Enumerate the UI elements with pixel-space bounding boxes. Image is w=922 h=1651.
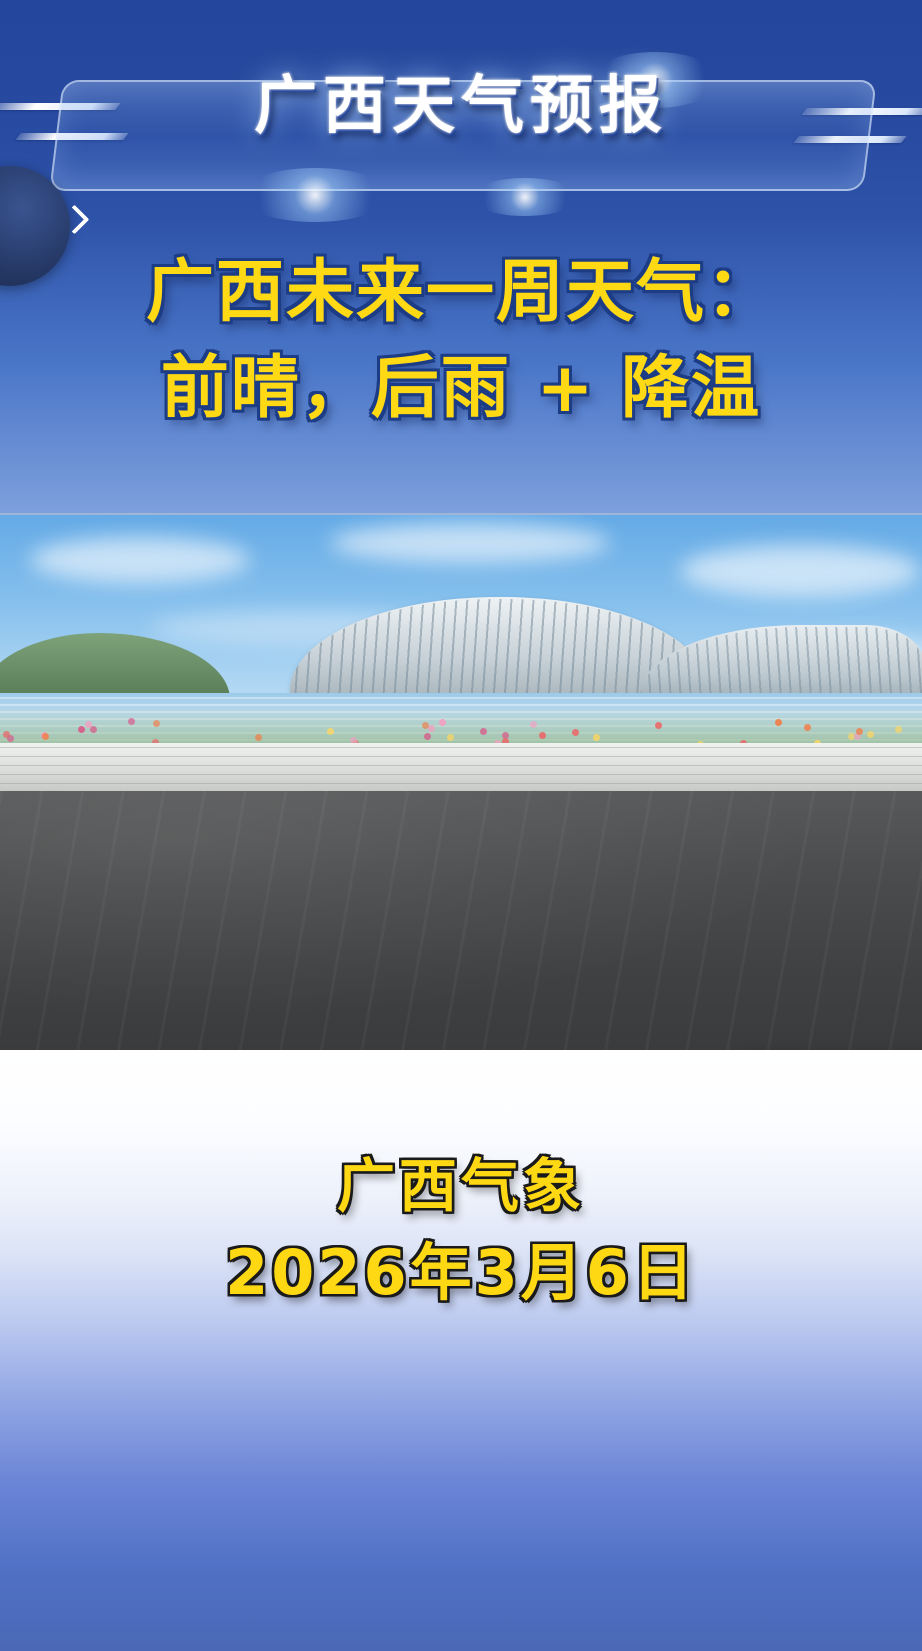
footer-organization: 广西气象 <box>0 1139 922 1223</box>
flower-icon <box>775 719 782 726</box>
flower-icon <box>439 719 446 726</box>
flower-icon <box>655 722 662 729</box>
flower-icon <box>255 734 262 741</box>
flower-icon <box>3 731 10 738</box>
flower-icon <box>572 729 579 736</box>
greenery-strip <box>0 707 922 745</box>
flower-icon <box>530 721 537 728</box>
cloud-icon <box>30 537 250 583</box>
plaza-floor-sheen-decoration <box>0 791 922 1052</box>
cloud-icon <box>330 523 610 563</box>
flower-icon <box>447 734 454 741</box>
headline-line-2: 前晴，后雨 + 降温 <box>0 341 922 437</box>
flower-icon <box>327 728 334 735</box>
flower-icon <box>128 718 135 725</box>
flower-icon <box>867 731 874 738</box>
cloud-icon <box>680 545 920 597</box>
flower-icon <box>90 726 97 733</box>
headline-line-1: 广西未来一周天气： <box>0 245 922 341</box>
flower-icon <box>804 724 811 731</box>
flower-icon <box>42 733 49 740</box>
flower-icon <box>480 728 487 735</box>
plaza-wall-lines-decoration <box>0 747 922 793</box>
flower-icon <box>424 733 431 740</box>
footer-date: 2026年3月6日 <box>0 1222 922 1312</box>
flower-icon <box>153 720 160 727</box>
weather-forecast-page: 广西天气预报 广西未来一周天气： 前晴，后雨 + 降温 <box>0 0 922 1651</box>
flower-icon <box>78 726 85 733</box>
flower-icon <box>856 728 863 735</box>
flower-icon <box>85 721 92 728</box>
flower-icon <box>593 734 600 741</box>
headline-block: 广西未来一周天气： 前晴，后雨 + 降温 <box>0 245 922 437</box>
flower-icon <box>539 732 546 739</box>
header-banner: 广西天气预报 <box>0 0 922 215</box>
program-title: 广西天气预报 <box>0 74 922 137</box>
flower-icon <box>895 726 902 733</box>
video-frame[interactable]: 未来一周天气展望 周前期以多云天气为主 中后期受冷空气 和暖湿气流共同影响 我 <box>0 513 922 1052</box>
